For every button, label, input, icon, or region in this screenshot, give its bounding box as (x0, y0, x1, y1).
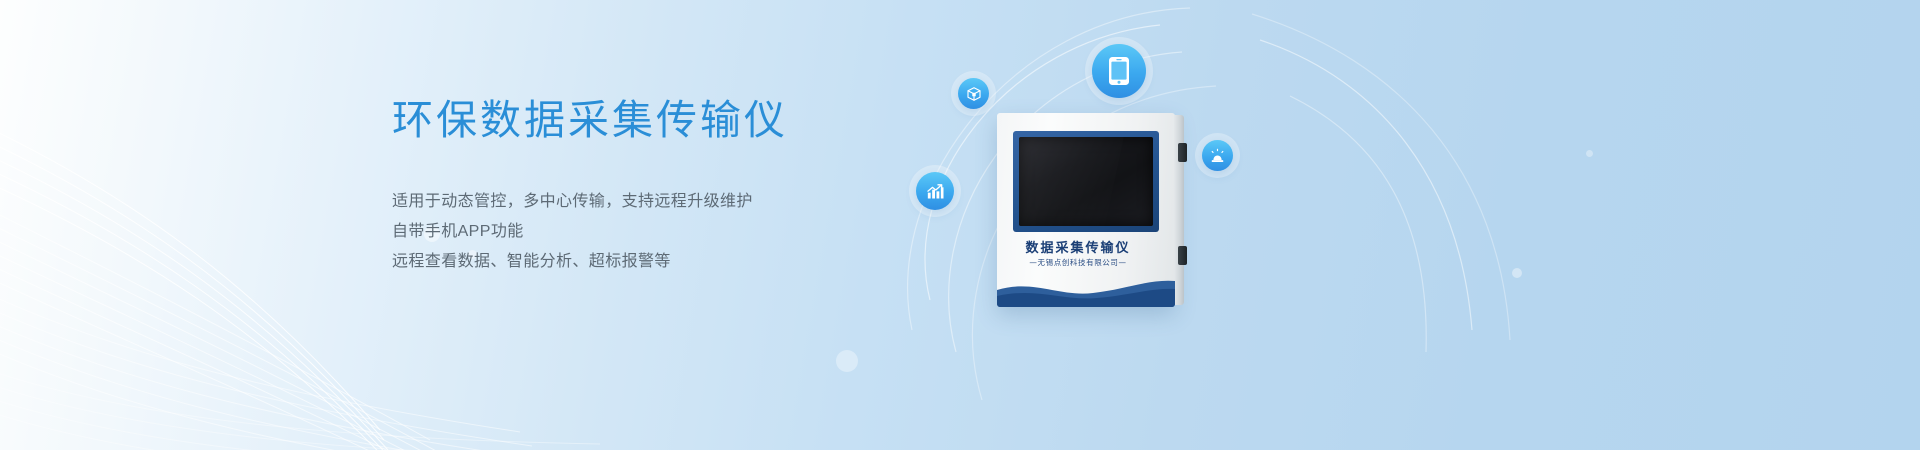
device-hinge-bottom (1178, 246, 1187, 265)
chart-badge[interactable] (916, 172, 954, 210)
cube-icon (966, 86, 982, 102)
bar-chart-icon (925, 181, 945, 201)
device-screen-bezel (1013, 131, 1159, 232)
device-company-label: —无锡点创科技有限公司— (997, 257, 1159, 268)
alarm-badge[interactable] (1202, 140, 1233, 171)
alarm-light-icon (1209, 147, 1226, 164)
device-screen (1019, 137, 1153, 226)
device-footer-wave (997, 277, 1175, 307)
product-device: 数据采集传输仪 —无锡点创科技有限公司— (997, 113, 1175, 307)
bokeh-dot (836, 350, 858, 372)
product-visual: 数据采集传输仪 —无锡点创科技有限公司— (860, 0, 1560, 450)
bokeh-dot (1586, 150, 1593, 157)
phone-badge[interactable] (1092, 44, 1146, 98)
smartphone-icon (1108, 56, 1130, 86)
box-badge[interactable] (958, 78, 989, 109)
device-hinge-top (1178, 143, 1187, 162)
product-hero-banner: 环保数据采集传输仪 适用于动态管控，多中心传输，支持远程升级维护 自带手机APP… (0, 0, 1920, 450)
connector-arcs (860, 0, 1560, 450)
device-label: 数据采集传输仪 (997, 237, 1159, 256)
